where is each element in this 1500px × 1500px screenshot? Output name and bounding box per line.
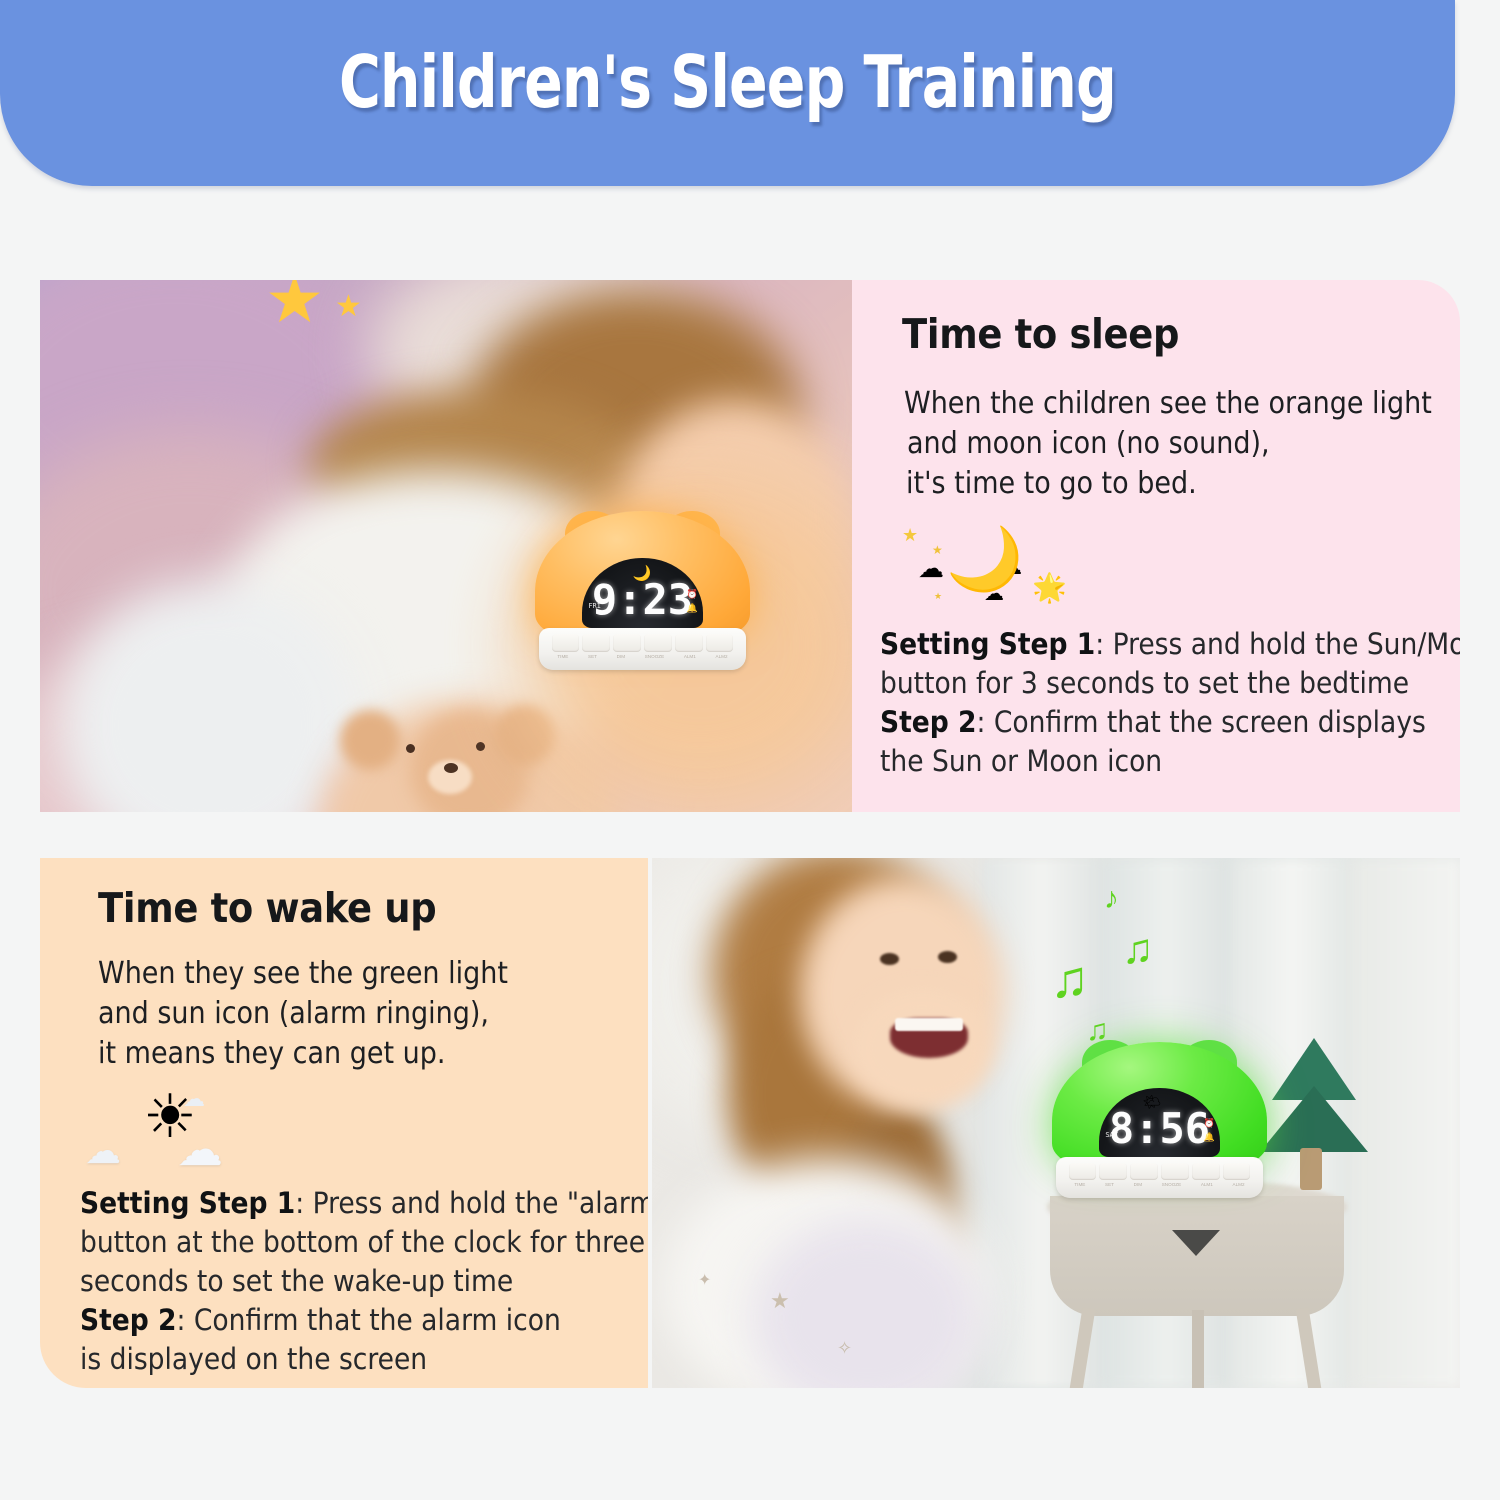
- step-text: button at the bottom of the clock for th…: [80, 1225, 645, 1259]
- cloud-icon: ☁: [183, 1086, 205, 1112]
- clock-button[interactable]: [552, 634, 580, 652]
- wake-step-line: Step 2: Confirm that the alarm icon: [80, 1301, 648, 1340]
- step-text: is displayed on the screen: [80, 1342, 427, 1376]
- sleep-step-line: Step 2: Confirm that the screen displays: [880, 703, 1460, 742]
- star-decoration-icon: ★: [265, 280, 324, 332]
- clock-base: TIME SET DIM SNOOZE ALM1 ALM2: [539, 628, 745, 670]
- header-banner: Children's Sleep Training: [0, 0, 1455, 186]
- step-text: button for 3 seconds to set the bedtime: [880, 666, 1409, 700]
- bell-icon: 🔔: [1204, 1133, 1215, 1142]
- music-note-icon: ♫: [1050, 954, 1089, 1006]
- clock-button-labels: TIME SET DIM SNOOZE ALM1 ALM2: [548, 654, 738, 659]
- clock-button[interactable]: [644, 634, 672, 652]
- clock-button[interactable]: [1130, 1163, 1158, 1180]
- step-text: : Press and hold the "alarm1": [295, 1186, 648, 1220]
- wake-step-line: Setting Step 1: Press and hold the "alar…: [80, 1184, 648, 1223]
- star-print-icon: ✦: [698, 1270, 711, 1290]
- button-label: SET: [1105, 1182, 1114, 1187]
- button-label: TIME: [557, 654, 568, 659]
- status-icons: ⏰ 🔔: [687, 590, 698, 613]
- button-label: DIM: [617, 654, 625, 659]
- button-label: ALM2: [1233, 1182, 1245, 1187]
- wake-mode-clock-device: 🌤 SAT 8:56 ⏰ 🔔 TIME: [1052, 1026, 1267, 1198]
- wake-body-line: When they see the green light: [98, 954, 508, 994]
- clock-button[interactable]: [675, 634, 703, 652]
- step-label: Setting Step 1: [80, 1186, 295, 1220]
- wake-body-line: it means they can get up.: [98, 1034, 508, 1074]
- cloud-icon: ☁: [177, 1122, 223, 1176]
- button-label: ALM2: [716, 654, 728, 659]
- clock-button[interactable]: [613, 634, 641, 652]
- sleep-step-line: the Sun or Moon icon: [880, 742, 1460, 781]
- button-label: SNOOZE: [1162, 1182, 1181, 1187]
- moon-cloud-decoration: ★ ★ ★ ☁ ☁ ☁ 🌙 🌟: [884, 515, 1094, 620]
- clock-button[interactable]: [706, 634, 734, 652]
- wake-body-line: and sun icon (alarm ringing),: [98, 994, 508, 1034]
- sleep-body-line: and moon icon (no sound),: [904, 424, 1432, 464]
- sun-cloud-decoration: ☀ ☁ ☁ ☁: [85, 1080, 285, 1180]
- button-label: ALM1: [684, 654, 696, 659]
- clock-button[interactable]: [1099, 1163, 1127, 1180]
- clock-button-row[interactable]: [1069, 1163, 1251, 1180]
- wake-card-heading: Time to wake up: [98, 884, 436, 932]
- step-text: : Confirm that the alarm icon: [177, 1303, 561, 1337]
- waking-child-photo: ★ ✦ ✧ ♪ ♫ ♫ ♫ 🌤 SAT 8:56 ⏰: [652, 858, 1460, 1388]
- step-text: : Confirm that the screen displays: [977, 705, 1426, 739]
- sleep-mode-clock-device: 🌙 FRI 9:23 ⏰ 🔔 TIME: [535, 495, 750, 670]
- button-label: ALM1: [1201, 1182, 1213, 1187]
- wake-step-line: seconds to set the wake-up time: [80, 1262, 648, 1301]
- sleep-body-line: it's time to go to bed.: [904, 464, 1432, 504]
- clock-time: 9:23: [582, 575, 702, 624]
- sleep-step-line: Setting Step 1: Press and hold the Sun/M…: [880, 625, 1460, 664]
- cloud-icon: ☁: [918, 553, 944, 584]
- clock-button[interactable]: [582, 634, 610, 652]
- step-text: seconds to set the wake-up time: [80, 1264, 513, 1298]
- step-text: the Sun or Moon icon: [880, 744, 1162, 778]
- clock-time: 8:56: [1099, 1104, 1219, 1153]
- infographic-page: Children's Sleep Training ★ ★: [0, 0, 1500, 1500]
- clock-button[interactable]: [1192, 1163, 1220, 1180]
- shooting-star-icon: 🌟: [1032, 571, 1067, 604]
- clock-button[interactable]: [1223, 1163, 1251, 1180]
- cloud-icon: ☁: [85, 1130, 121, 1172]
- clock-button[interactable]: [1161, 1163, 1189, 1180]
- button-label: SNOOZE: [645, 654, 664, 659]
- music-note-icon: ♫: [1122, 928, 1154, 970]
- sleep-step-line: button for 3 seconds to set the bedtime: [880, 664, 1460, 703]
- music-note-icon: ♪: [1104, 884, 1119, 914]
- wake-step-line: button at the bottom of the clock for th…: [80, 1223, 648, 1262]
- bell-icon: 🔔: [687, 604, 698, 613]
- button-label: DIM: [1134, 1182, 1142, 1187]
- clock-button-row[interactable]: [552, 634, 734, 652]
- status-icons: ⏰ 🔔: [1204, 1119, 1215, 1142]
- time-to-wake-up-card: Time to wake up When they see the green …: [40, 858, 648, 1388]
- wake-step-line: is displayed on the screen: [80, 1340, 648, 1379]
- sleep-card-heading: Time to sleep: [902, 310, 1179, 358]
- step-label: Step 2: [80, 1303, 177, 1337]
- page-title: Children's Sleep Training: [339, 40, 1116, 146]
- star-print-icon: ✧: [837, 1338, 852, 1359]
- clock-base: TIME SET DIM SNOOZE ALM1 ALM2: [1056, 1157, 1262, 1198]
- alarm-icon: ⏰: [687, 590, 698, 599]
- button-label: TIME: [1074, 1182, 1085, 1187]
- sleeping-child-photo: ★ ★ 🌙 FRI 9:23 ⏰ 🔔: [40, 280, 852, 812]
- star-print-icon: ★: [770, 1288, 790, 1314]
- step-label: Step 2: [880, 705, 977, 739]
- time-to-sleep-card: Time to sleep When the children see the …: [852, 280, 1460, 812]
- button-label: SET: [588, 654, 597, 659]
- step-text: : Press and hold the Sun/Moon: [1095, 627, 1460, 661]
- alarm-icon: ⏰: [1204, 1119, 1215, 1128]
- clock-button-labels: TIME SET DIM SNOOZE ALM1 ALM2: [1065, 1182, 1255, 1187]
- clock-button[interactable]: [1069, 1163, 1097, 1180]
- sleep-body-line: When the children see the orange light: [904, 384, 1432, 424]
- crescent-moon-icon: 🌙: [946, 523, 1023, 596]
- star-icon: ★: [934, 591, 942, 602]
- step-label: Setting Step 1: [880, 627, 1095, 661]
- star-decoration-icon: ★: [335, 292, 362, 322]
- star-icon: ★: [902, 525, 918, 546]
